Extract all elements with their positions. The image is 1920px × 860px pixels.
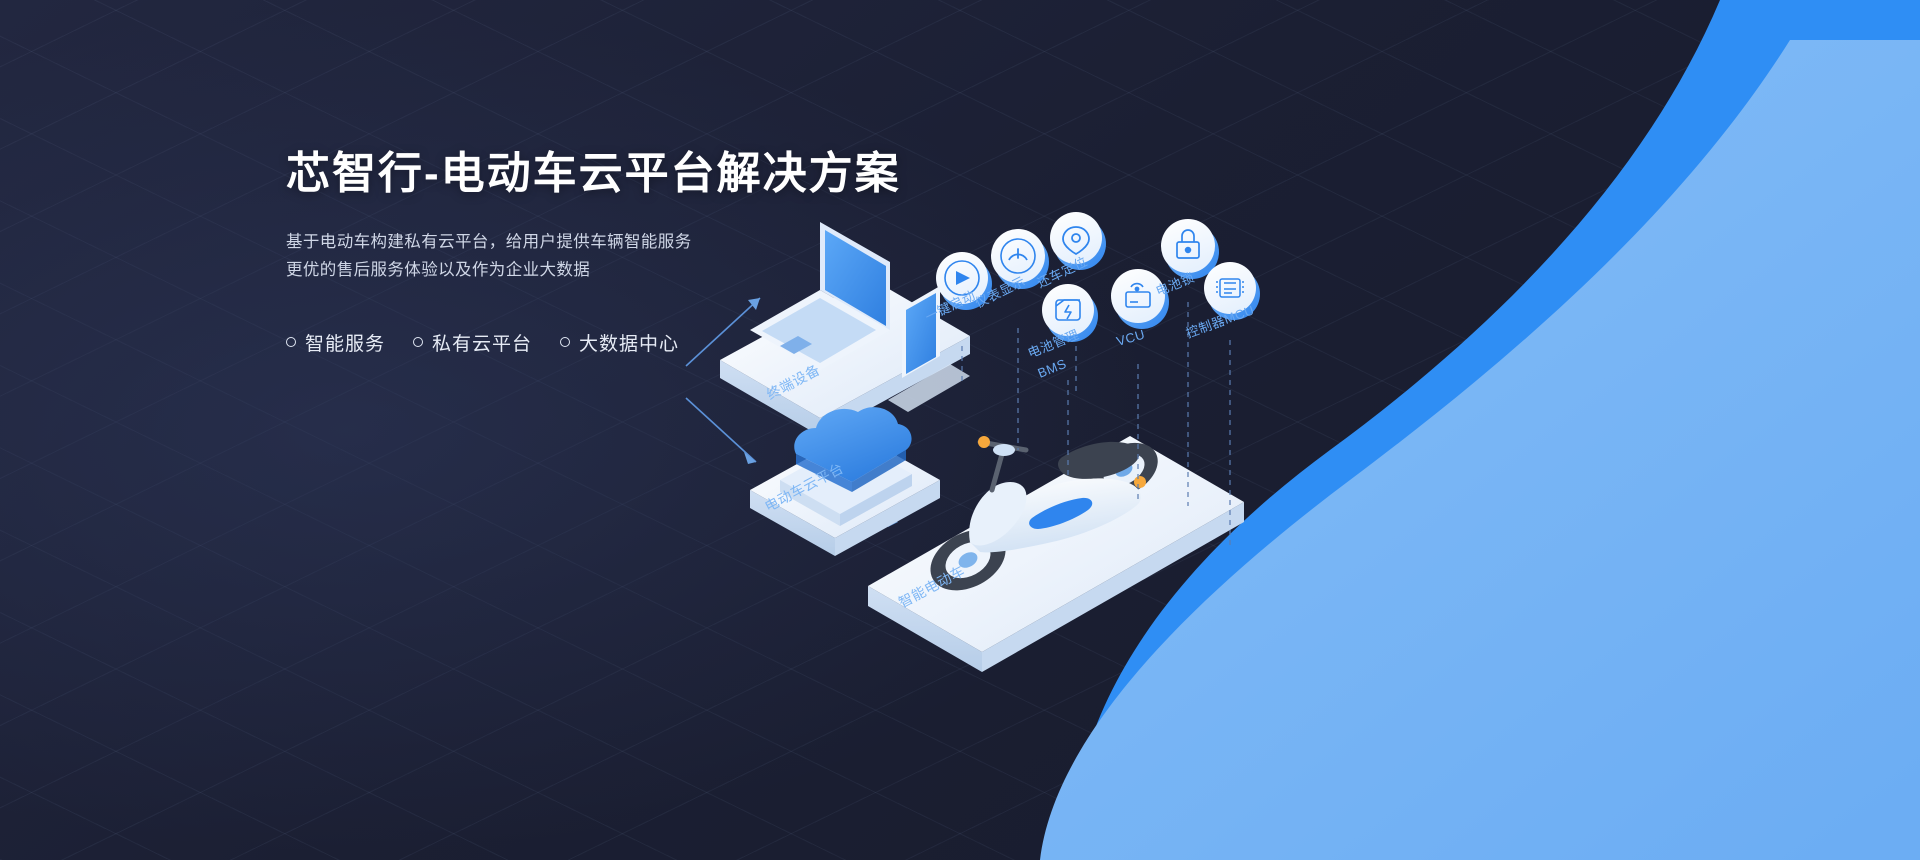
hero-banner: 芯智行-电动车云平台解决方案 基于电动车构建私有云平台，给用户提供车辆智能服务 …	[0, 0, 1920, 860]
feature-coin-power-button[interactable]: 一键启动	[923, 252, 992, 325]
bullet-label-0: 智能服务	[305, 329, 385, 356]
label-feature-3-line2: BMS	[1036, 356, 1069, 381]
label-feature-5: 电池锁	[1154, 270, 1197, 299]
platform-smart-vehicle: 智能电动车	[868, 382, 1258, 672]
platform-ev-cloud: 电动车云平台	[750, 407, 940, 556]
circle-outline-icon	[413, 337, 423, 347]
taillight	[1134, 476, 1146, 488]
feature-coin-vcu[interactable]: VCU	[1111, 269, 1169, 349]
isometric-diagram: 终端设备 电动车云平台	[640, 150, 1920, 860]
bullet-item-0: 智能服务	[286, 329, 385, 356]
platform-terminal-devices: 终端设备	[720, 222, 970, 436]
circle-outline-icon	[560, 337, 570, 347]
circle-outline-icon	[286, 337, 296, 347]
bullet-label-1: 私有云平台	[432, 329, 532, 356]
feature-coin-bms[interactable]: 电池管理 BMS	[1026, 284, 1098, 381]
arrow-cloud-to-terminal	[686, 398, 756, 462]
dashboard	[993, 444, 1015, 456]
bullet-item-1: 私有云平台	[413, 329, 532, 356]
headlight	[978, 436, 990, 448]
label-feature-4: VCU	[1115, 326, 1147, 348]
